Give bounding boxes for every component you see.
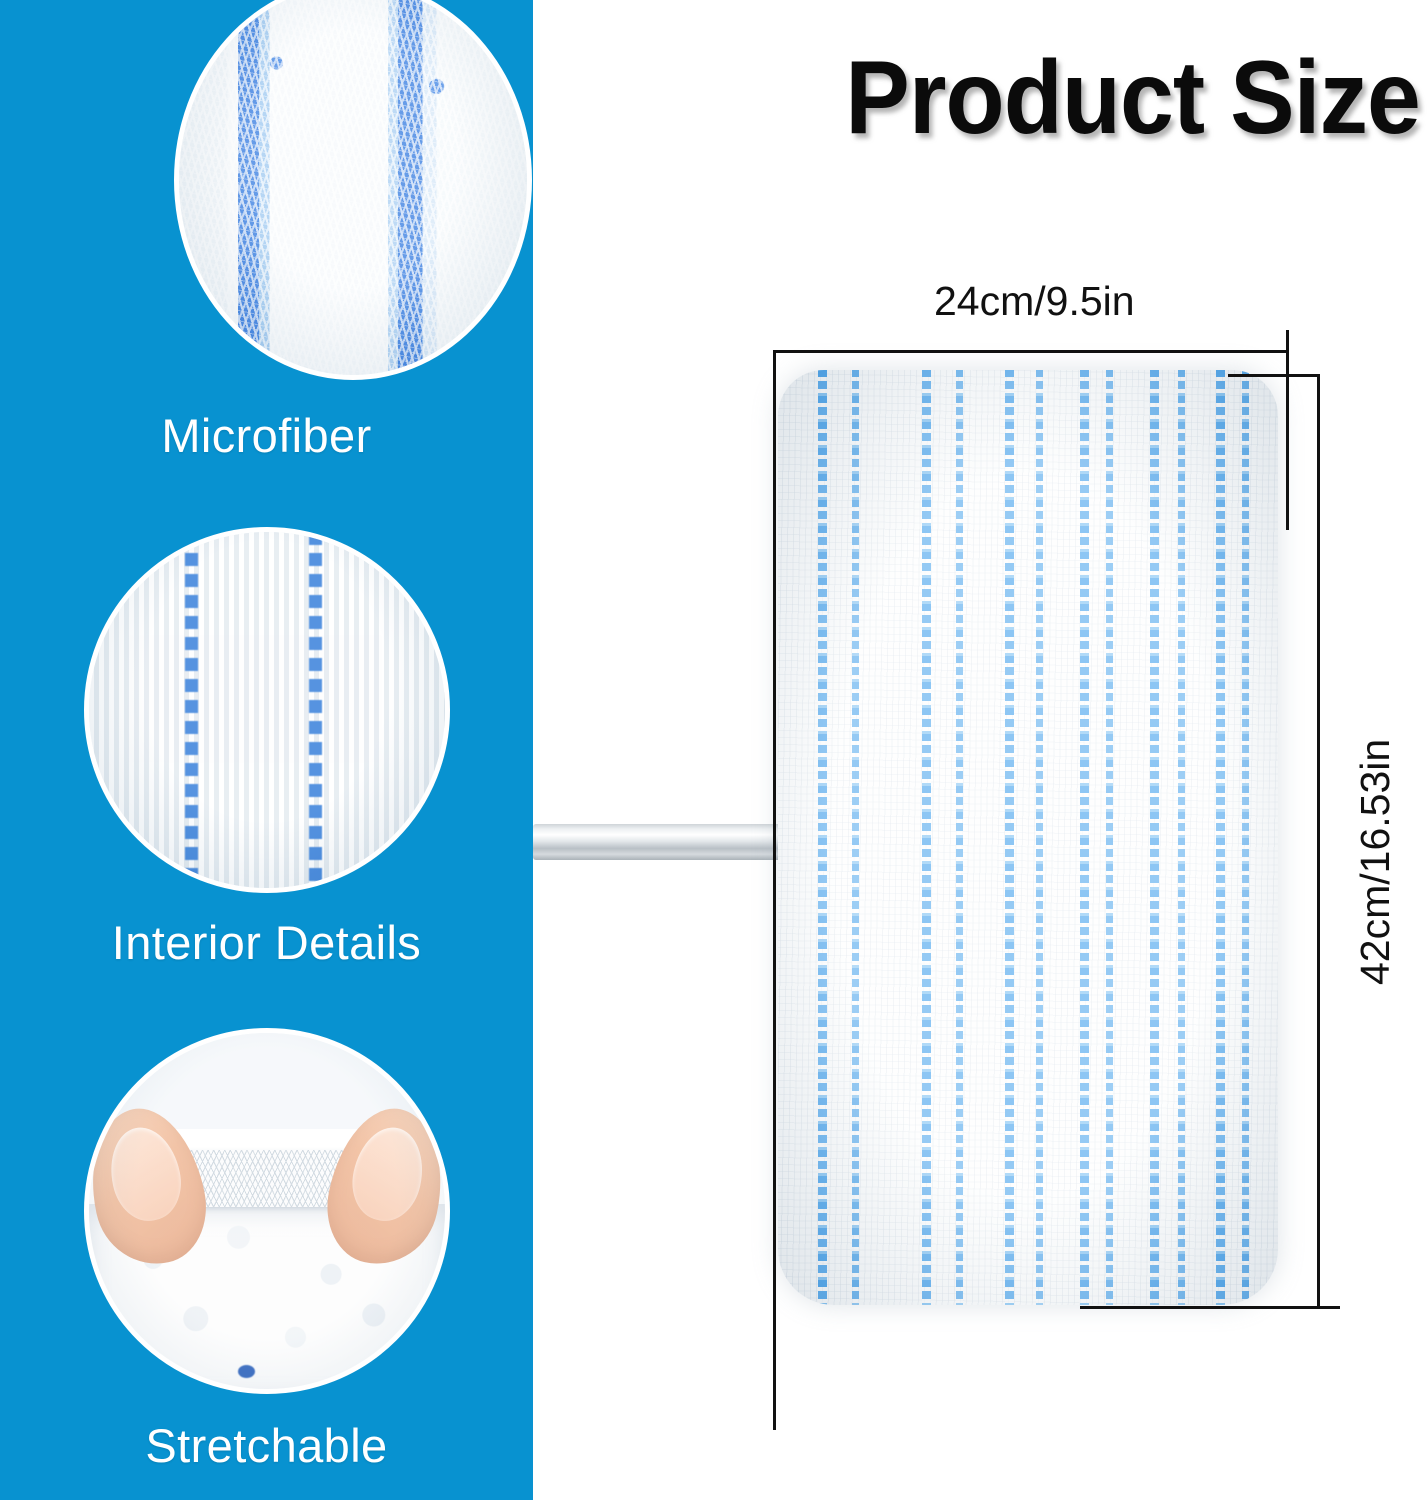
feature-sidebar: Microfiber Interior Details Stretchabl (0, 0, 533, 1500)
height-dimension-line (1317, 374, 1320, 1308)
elastic-band-stretch-photo (84, 1028, 450, 1394)
woven-backing-closeup-photo (84, 527, 450, 893)
width-extension-line-right (1286, 330, 1289, 530)
feature-label-interior-details: Interior Details (0, 915, 533, 970)
page-title: Product Size (845, 46, 1420, 150)
feature-item-microfiber: Microfiber (0, 0, 533, 510)
mop-pole (533, 824, 786, 860)
height-extension-line-bottom (1080, 1306, 1340, 1309)
feature-item-interior-details: Interior Details (0, 527, 533, 997)
feature-label-stretchable: Stretchable (0, 1418, 533, 1473)
width-extension-line-left (773, 350, 776, 1430)
microfiber-closeup-photo (174, 0, 532, 380)
infographic-page: Microfiber Interior Details Stretchabl (0, 0, 1427, 1500)
feature-label-microfiber: Microfiber (0, 408, 533, 463)
width-dimension-label: 24cm/9.5in (934, 278, 1135, 325)
height-dimension-label: 42cm/16.53in (1352, 739, 1399, 985)
width-dimension-line (773, 350, 1289, 353)
mop-pad (778, 370, 1278, 1305)
feature-item-stretchable: Stretchable (0, 1028, 533, 1498)
mop-pad-shading (778, 370, 1278, 1305)
height-extension-line-top (1228, 374, 1320, 377)
